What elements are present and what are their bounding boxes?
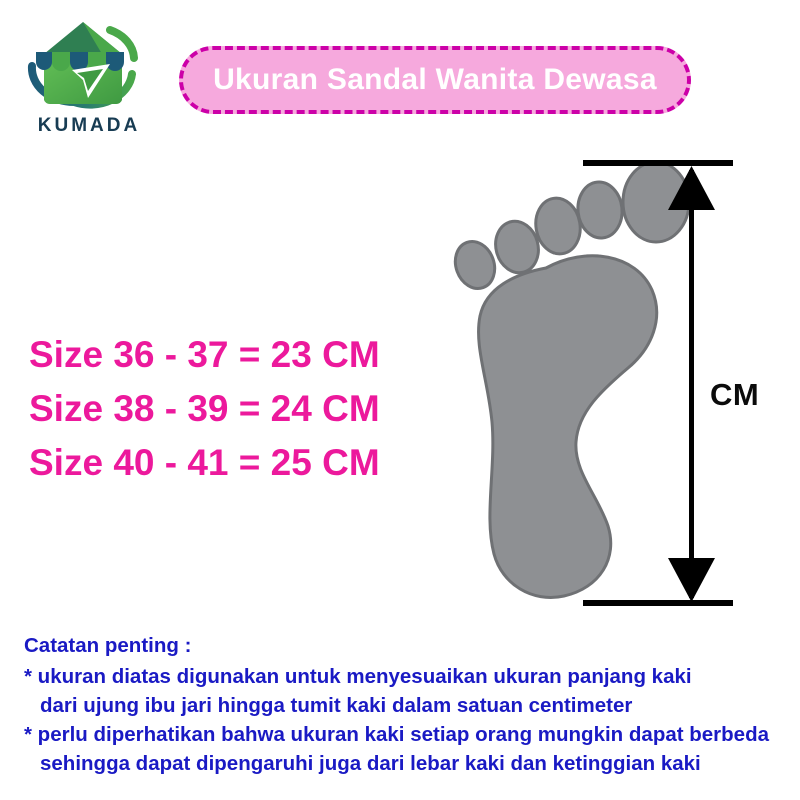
important-notes: Catatan penting : * ukuran diatas diguna…: [24, 630, 780, 778]
brand-logo: KUMADA: [14, 14, 164, 140]
note-line: sehingga dapat dipengaruhi juga dari leb…: [24, 749, 780, 778]
size-line: Size 38 - 39 = 24 CM: [29, 382, 449, 436]
size-chart-canvas: KUMADA Ukuran Sandal Wanita Dewasa Size …: [0, 0, 800, 800]
page-title: Ukuran Sandal Wanita Dewasa: [213, 63, 657, 97]
size-line: Size 36 - 37 = 23 CM: [29, 328, 449, 382]
right-footprint-icon: [449, 162, 689, 597]
title-banner: Ukuran Sandal Wanita Dewasa: [179, 46, 691, 114]
cm-measure-label: CM: [710, 377, 759, 413]
note-line: dari ujung ibu jari hingga tumit kaki da…: [24, 691, 780, 720]
note-line: * perlu diperhatikan bahwa ukuran kaki s…: [24, 720, 780, 749]
notes-heading: Catatan penting :: [24, 630, 780, 662]
size-line: Size 40 - 41 = 25 CM: [29, 436, 449, 490]
size-list: Size 36 - 37 = 23 CM Size 38 - 39 = 24 C…: [29, 328, 449, 490]
note-line: * ukuran diatas digunakan untuk menyesua…: [24, 662, 780, 691]
shop-storefront-navigation-icon: [14, 14, 164, 114]
brand-wordmark: KUMADA: [14, 114, 164, 138]
